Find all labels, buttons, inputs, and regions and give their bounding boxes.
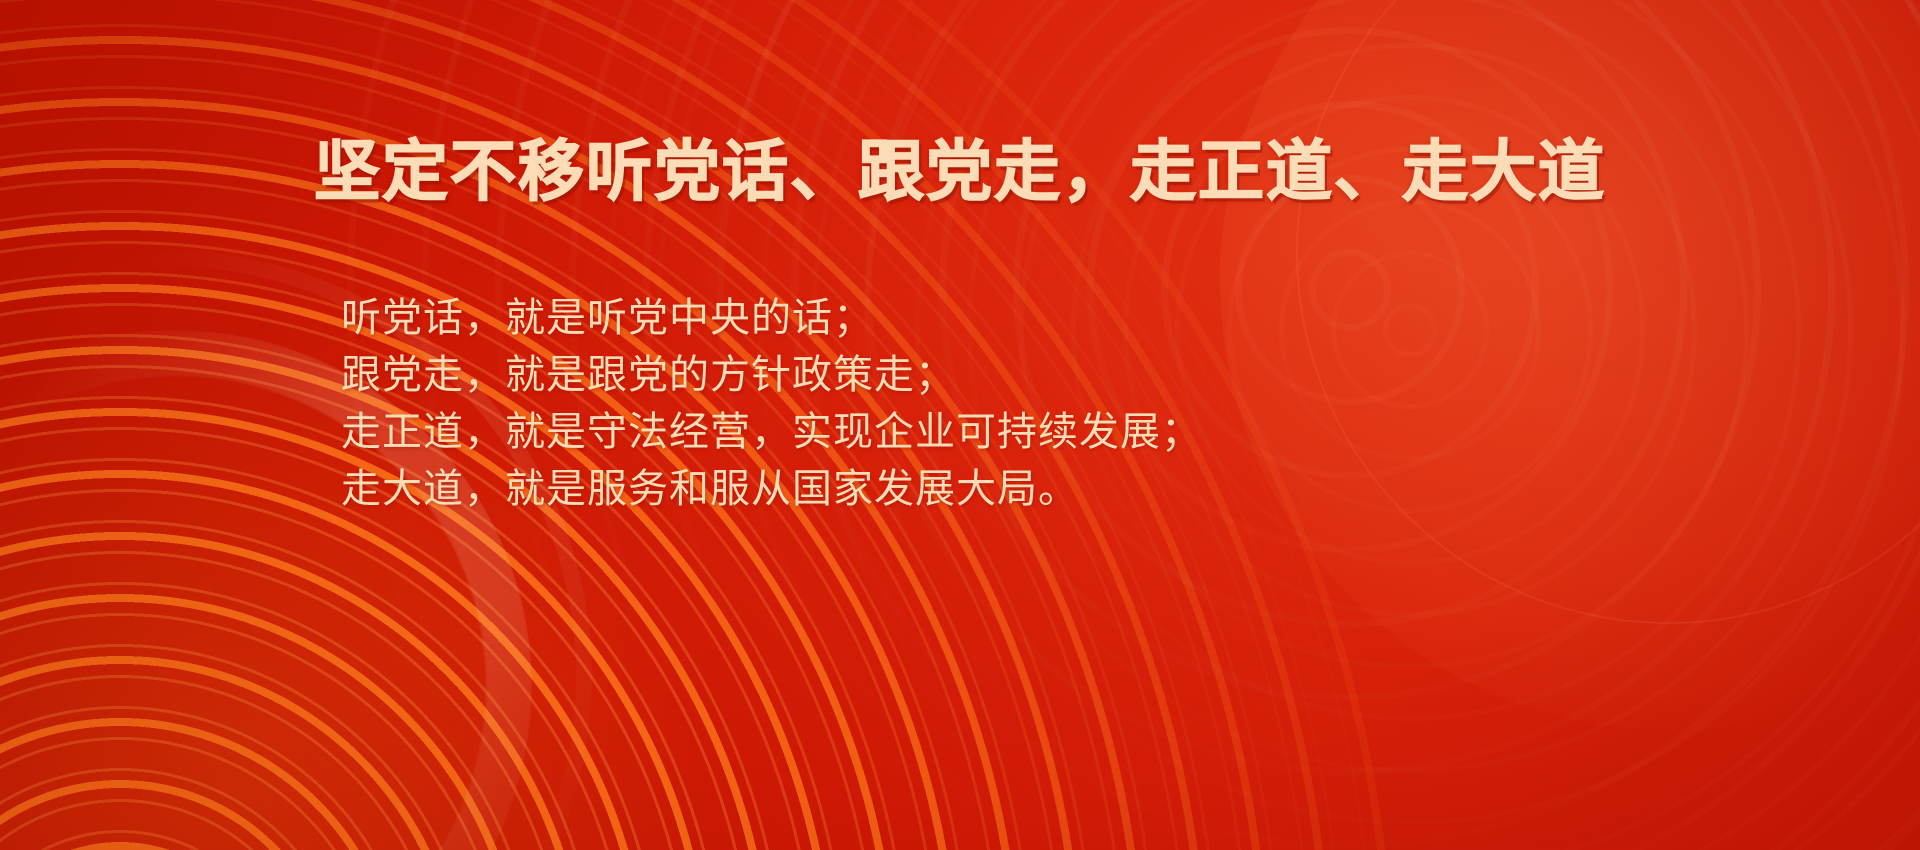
body-line-4: 走大道，就是服务和服从国家发展大局。 — [341, 461, 1202, 518]
poster-body: 听党话，就是听党中央的话； 跟党走，就是跟党的方针政策走； 走正道，就是守法经营… — [341, 290, 1202, 518]
body-line-1: 听党话，就是听党中央的话； — [341, 290, 1202, 347]
poster-banner: 坚定不移听党话、跟党走，走正道、走大道 听党话，就是听党中央的话； 跟党走，就是… — [0, 0, 1920, 850]
poster-headline: 坚定不移听党话、跟党走，走正道、走大道 — [0, 138, 1920, 204]
body-line-3: 走正道，就是守法经营，实现企业可持续发展； — [341, 404, 1202, 461]
poster-content: 坚定不移听党话、跟党走，走正道、走大道 听党话，就是听党中央的话； 跟党走，就是… — [0, 0, 1920, 850]
body-line-2: 跟党走，就是跟党的方针政策走； — [341, 347, 1202, 404]
